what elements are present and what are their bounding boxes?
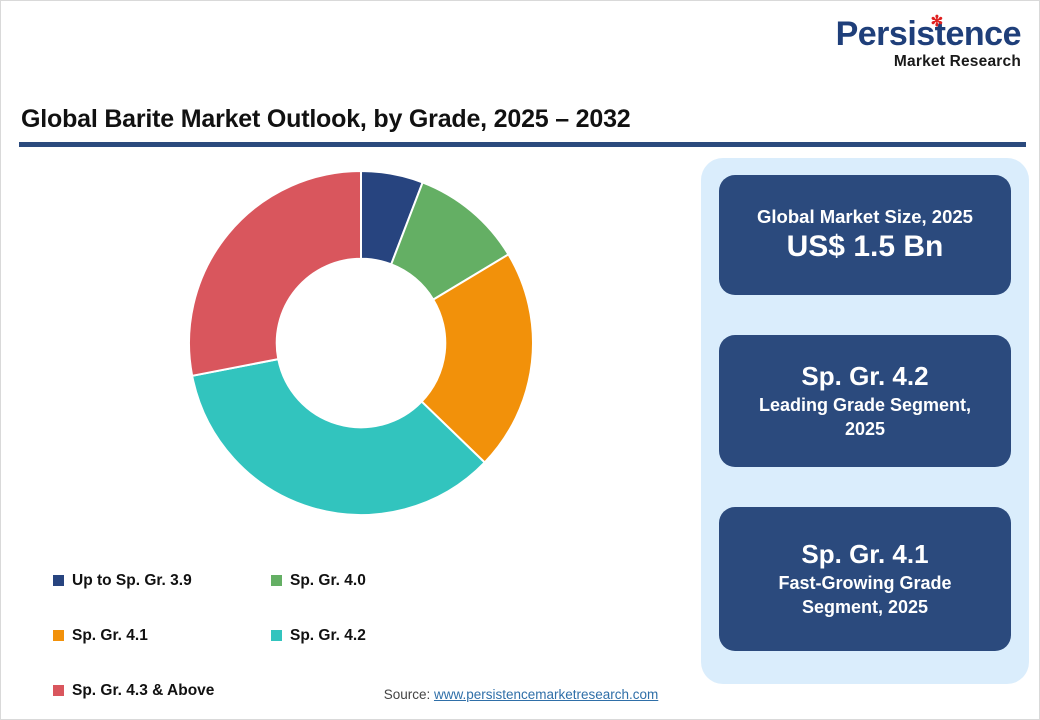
market-size-caption: Global Market Size, 2025: [757, 205, 973, 228]
infographic-page: ✻ Persistence Market Research Global Bar…: [0, 0, 1040, 720]
legend-swatch-icon: [53, 575, 64, 586]
legend-item[interactable]: Sp. Gr. 4.1: [53, 608, 271, 663]
legend-item-label: Sp. Gr. 4.0: [290, 572, 366, 590]
title-divider: [19, 142, 1026, 147]
donut-chart-svg: [181, 163, 541, 523]
donut-slice: [189, 171, 361, 376]
legend-item-label: Sp. Gr. 4.1: [72, 627, 148, 645]
leading-segment-sub-line2: 2025: [845, 418, 885, 441]
legend-item[interactable]: Up to Sp. Gr. 3.9: [53, 553, 271, 608]
legend-item-label: Sp. Gr. 4.2: [290, 627, 366, 645]
market-size-value: US$ 1.5 Bn: [787, 229, 944, 265]
fast-growing-sub-line2: Segment, 2025: [802, 596, 928, 619]
leading-segment-sub-line1: Leading Grade Segment,: [759, 394, 971, 417]
legend-swatch-icon: [271, 630, 282, 641]
leading-segment-card: Sp. Gr. 4.2 Leading Grade Segment, 2025: [719, 335, 1011, 467]
leading-segment-headline: Sp. Gr. 4.2: [801, 361, 928, 392]
legend-item-label: Up to Sp. Gr. 3.9: [72, 572, 192, 590]
fast-growing-sub-line1: Fast-Growing Grade: [778, 572, 951, 595]
fast-growing-segment-card: Sp. Gr. 4.1 Fast-Growing Grade Segment, …: [719, 507, 1011, 651]
highlights-panel: Global Market Size, 2025 US$ 1.5 Bn Sp. …: [701, 158, 1029, 684]
legend-item[interactable]: Sp. Gr. 4.2: [271, 608, 489, 663]
page-title: Global Barite Market Outlook, by Grade, …: [21, 105, 631, 134]
market-size-card: Global Market Size, 2025 US$ 1.5 Bn: [719, 175, 1011, 295]
logo-brand-label: Persistence: [836, 15, 1021, 53]
company-logo: ✻ Persistence Market Research: [801, 17, 1021, 70]
donut-slice-group: [189, 171, 533, 515]
legend-item[interactable]: Sp. Gr. 4.0: [271, 553, 489, 608]
source-link[interactable]: www.persistencemarketresearch.com: [434, 687, 658, 702]
logo-star-icon: ✻: [931, 14, 943, 29]
logo-subtitle: Market Research: [801, 54, 1021, 70]
donut-chart: [21, 153, 681, 553]
fast-growing-headline: Sp. Gr. 4.1: [801, 539, 928, 570]
legend-swatch-icon: [271, 575, 282, 586]
legend-swatch-icon: [53, 630, 64, 641]
source-line: Source: www.persistencemarketresearch.co…: [1, 687, 1040, 702]
source-prefix: Source:: [384, 687, 434, 702]
logo-brand-text: ✻ Persistence: [836, 17, 1021, 51]
